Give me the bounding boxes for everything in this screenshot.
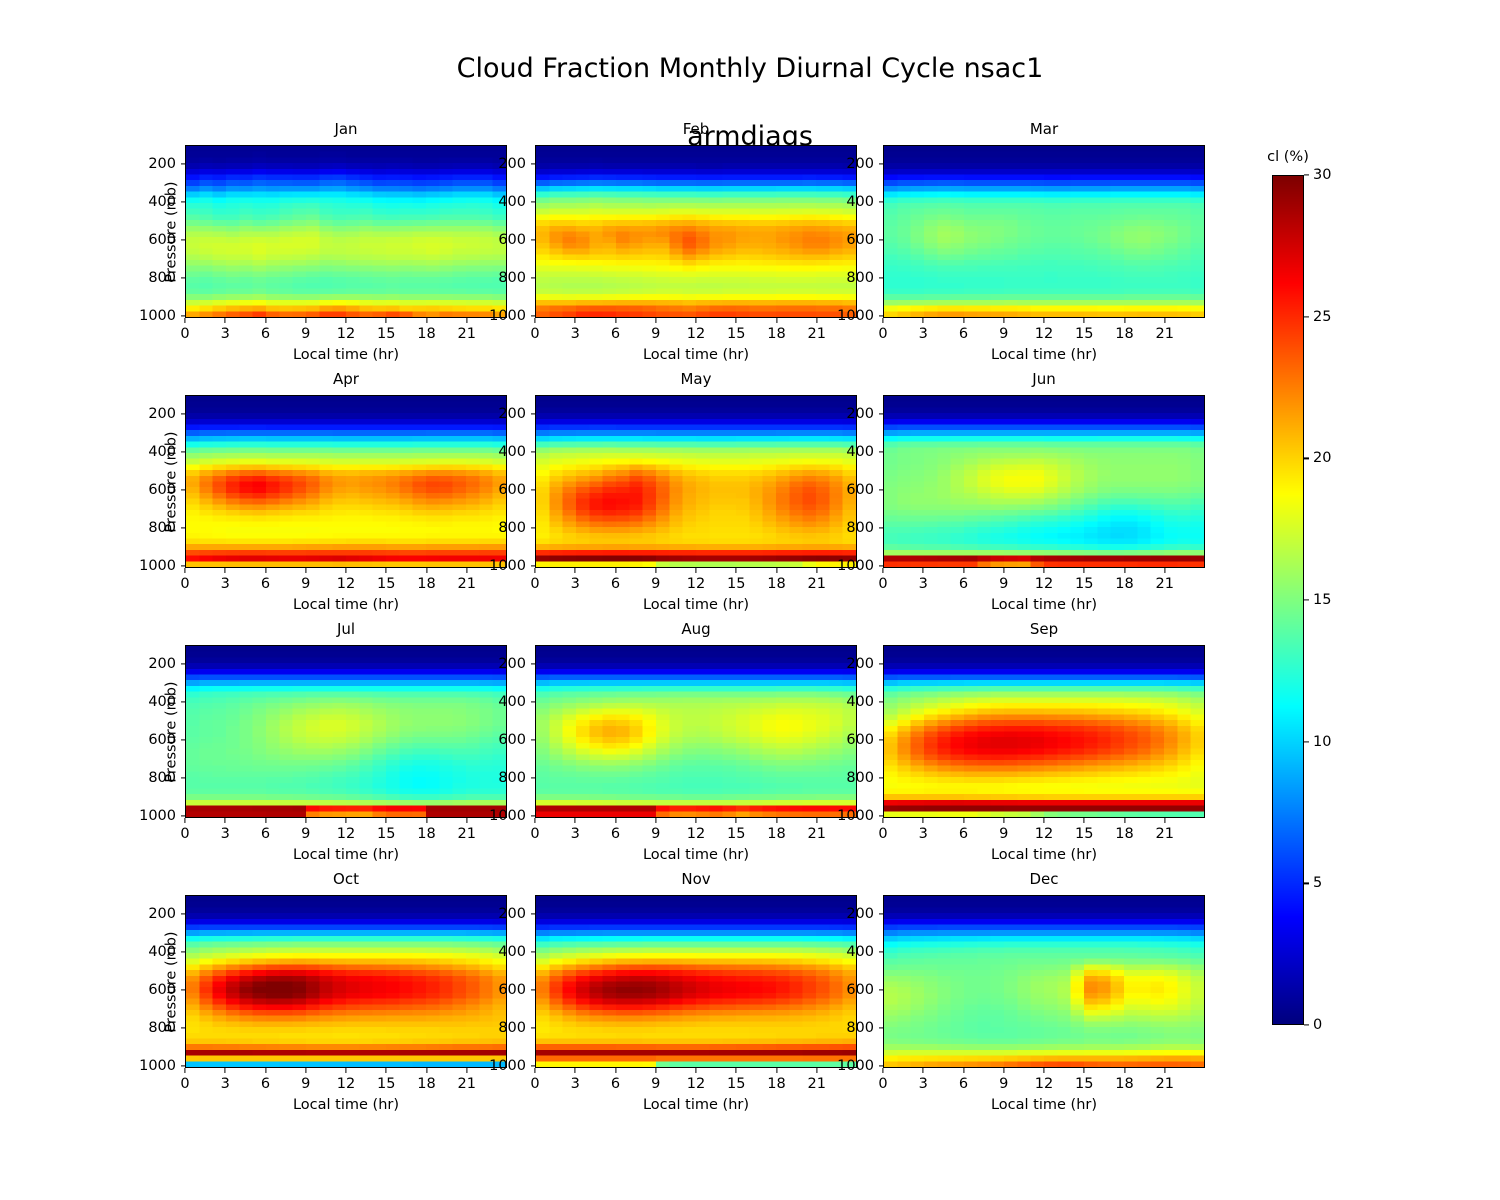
x-tick-mark — [184, 318, 185, 323]
heatmap-axes — [535, 895, 857, 1068]
x-tick-mark — [1164, 318, 1165, 323]
x-tick-label: 6 — [959, 576, 968, 592]
x-tick-mark — [655, 818, 656, 823]
x-tick-label: 18 — [1115, 1076, 1133, 1092]
x-tick-mark — [736, 568, 737, 573]
heatmap-image — [536, 896, 856, 1067]
x-tick-mark — [1124, 818, 1125, 823]
x-tick-mark — [655, 318, 656, 323]
x-tick-mark — [345, 818, 346, 823]
y-axis-label: Pressure (mb) — [164, 181, 180, 282]
x-tick-label: 18 — [1115, 326, 1133, 342]
x-tick-label: 0 — [180, 1076, 189, 1092]
colorbar-tick-label: 5 — [1304, 875, 1322, 891]
x-tick-label: 12 — [687, 1076, 705, 1092]
y-tick-label: 200 — [846, 656, 883, 672]
x-tick-mark — [426, 1068, 427, 1073]
x-tick-mark — [466, 818, 467, 823]
x-tick-label: 15 — [377, 326, 395, 342]
x-tick-label: 15 — [377, 576, 395, 592]
x-tick-mark — [265, 1068, 266, 1073]
x-tick-label: 3 — [571, 1076, 580, 1092]
x-axis-label: Local time (hr) — [185, 347, 507, 363]
x-tick-mark — [1084, 818, 1085, 823]
y-tick-label: 200 — [148, 656, 185, 672]
y-tick-label: 1000 — [489, 808, 535, 824]
heatmap-axes — [883, 145, 1205, 318]
x-tick-label: 15 — [727, 576, 745, 592]
x-tick-label: 18 — [767, 1076, 785, 1092]
y-tick-label: 800 — [498, 1020, 535, 1036]
x-tick-mark — [695, 318, 696, 323]
colorbar-tick-label: 30 — [1304, 167, 1331, 183]
x-tick-label: 9 — [651, 576, 660, 592]
x-tick-label: 15 — [1075, 576, 1093, 592]
x-tick-mark — [963, 818, 964, 823]
heatmap-image — [186, 146, 506, 317]
x-tick-mark — [225, 818, 226, 823]
y-tick-label: 400 — [498, 694, 535, 710]
y-tick-label: 1000 — [139, 558, 185, 574]
x-tick-mark — [386, 568, 387, 573]
heatmap-axes — [883, 895, 1205, 1068]
x-tick-label: 6 — [959, 826, 968, 842]
y-tick-label: 200 — [498, 406, 535, 422]
y-tick-label: 1000 — [489, 308, 535, 324]
x-tick-mark — [225, 568, 226, 573]
panel-jun: Jun2004006008001000036912151821Local tim… — [883, 395, 1205, 568]
x-tick-mark — [1124, 1068, 1125, 1073]
heatmap-image — [536, 646, 856, 817]
x-tick-mark — [534, 818, 535, 823]
panel-title: Apr — [185, 370, 507, 388]
x-tick-label: 9 — [999, 576, 1008, 592]
colorbar-tick-label: 20 — [1304, 450, 1331, 466]
x-tick-label: 3 — [919, 326, 928, 342]
x-tick-mark — [1043, 318, 1044, 323]
x-tick-mark — [776, 568, 777, 573]
x-tick-label: 18 — [417, 826, 435, 842]
panel-title: Aug — [535, 620, 857, 638]
y-tick-label: 200 — [846, 156, 883, 172]
x-tick-label: 3 — [221, 326, 230, 342]
x-tick-mark — [1003, 568, 1004, 573]
y-tick-label: 200 — [498, 906, 535, 922]
heatmap-image — [186, 896, 506, 1067]
x-tick-label: 21 — [1156, 1076, 1174, 1092]
x-tick-label: 9 — [651, 1076, 660, 1092]
heatmap-image — [186, 646, 506, 817]
y-axis-label: Pressure (mb) — [164, 681, 180, 782]
panel-title: Feb — [535, 120, 857, 138]
colorbar-tick-label: 10 — [1304, 734, 1331, 750]
x-tick-label: 18 — [417, 326, 435, 342]
y-tick-label: 600 — [498, 232, 535, 248]
x-tick-mark — [615, 318, 616, 323]
x-tick-label: 0 — [878, 826, 887, 842]
x-tick-mark — [1124, 318, 1125, 323]
panel-oct: Oct2004006008001000036912151821Local tim… — [185, 895, 507, 1068]
panel-aug: Aug2004006008001000036912151821Local tim… — [535, 645, 857, 818]
x-tick-label: 12 — [1035, 326, 1053, 342]
x-tick-label: 18 — [1115, 576, 1133, 592]
heatmap-image — [884, 146, 1204, 317]
x-axis-label: Local time (hr) — [535, 597, 857, 613]
x-tick-label: 3 — [919, 826, 928, 842]
x-tick-label: 21 — [1156, 326, 1174, 342]
x-tick-label: 15 — [377, 826, 395, 842]
x-tick-mark — [963, 318, 964, 323]
heatmap-axes — [185, 395, 507, 568]
y-axis-label: Pressure (mb) — [164, 931, 180, 1032]
x-tick-label: 3 — [571, 326, 580, 342]
x-tick-label: 6 — [959, 326, 968, 342]
y-tick-label: 1000 — [837, 558, 883, 574]
panel-may: May2004006008001000036912151821Local tim… — [535, 395, 857, 568]
heatmap-image — [884, 646, 1204, 817]
heatmap-image — [884, 396, 1204, 567]
x-tick-mark — [882, 318, 883, 323]
x-tick-mark — [695, 1068, 696, 1073]
x-tick-label: 6 — [959, 1076, 968, 1092]
x-tick-mark — [923, 1068, 924, 1073]
x-tick-mark — [345, 568, 346, 573]
x-tick-label: 9 — [999, 1076, 1008, 1092]
x-tick-mark — [575, 318, 576, 323]
x-tick-mark — [386, 318, 387, 323]
y-tick-label: 600 — [846, 482, 883, 498]
panel-title: Dec — [883, 870, 1205, 888]
x-tick-mark — [225, 1068, 226, 1073]
x-tick-mark — [345, 1068, 346, 1073]
y-tick-label: 200 — [846, 406, 883, 422]
x-tick-mark — [305, 318, 306, 323]
x-tick-label: 0 — [180, 326, 189, 342]
x-tick-mark — [1164, 1068, 1165, 1073]
x-axis-label: Local time (hr) — [883, 597, 1205, 613]
y-tick-label: 400 — [498, 194, 535, 210]
x-tick-mark — [736, 1068, 737, 1073]
x-tick-mark — [1003, 318, 1004, 323]
x-tick-mark — [575, 568, 576, 573]
y-tick-label: 1000 — [489, 558, 535, 574]
y-tick-label: 800 — [498, 270, 535, 286]
x-tick-label: 9 — [999, 326, 1008, 342]
y-tick-label: 600 — [498, 982, 535, 998]
x-tick-mark — [1084, 568, 1085, 573]
x-tick-mark — [816, 818, 817, 823]
y-tick-label: 600 — [498, 482, 535, 498]
x-tick-mark — [575, 1068, 576, 1073]
x-tick-mark — [736, 318, 737, 323]
x-tick-label: 21 — [1156, 576, 1174, 592]
y-tick-label: 800 — [846, 770, 883, 786]
x-tick-label: 18 — [767, 826, 785, 842]
panel-jan: Jan2004006008001000036912151821Local tim… — [185, 145, 507, 318]
x-tick-label: 15 — [727, 826, 745, 842]
x-tick-label: 21 — [808, 326, 826, 342]
x-tick-label: 0 — [878, 1076, 887, 1092]
x-tick-mark — [265, 318, 266, 323]
panel-title: Jan — [185, 120, 507, 138]
panel-title: Sep — [883, 620, 1205, 638]
x-tick-mark — [695, 568, 696, 573]
x-axis-label: Local time (hr) — [535, 347, 857, 363]
figure-title-line1: Cloud Fraction Monthly Diurnal Cycle nsa… — [457, 53, 1044, 84]
x-axis-label: Local time (hr) — [535, 847, 857, 863]
x-tick-label: 0 — [180, 826, 189, 842]
x-tick-label: 3 — [221, 576, 230, 592]
x-tick-mark — [1043, 1068, 1044, 1073]
y-tick-label: 1000 — [139, 1058, 185, 1074]
x-tick-label: 6 — [261, 826, 270, 842]
y-tick-label: 1000 — [139, 308, 185, 324]
x-tick-mark — [615, 818, 616, 823]
x-axis-label: Local time (hr) — [883, 347, 1205, 363]
colorbar-tick-label: 15 — [1304, 592, 1331, 608]
colorbar: cl (%) 051015202530 — [1272, 175, 1304, 1025]
x-tick-mark — [816, 1068, 817, 1073]
heatmap-axes — [535, 645, 857, 818]
x-tick-mark — [345, 318, 346, 323]
x-tick-mark — [615, 568, 616, 573]
y-tick-label: 1000 — [139, 808, 185, 824]
y-tick-label: 1000 — [837, 1058, 883, 1074]
x-tick-mark — [655, 568, 656, 573]
x-tick-mark — [466, 318, 467, 323]
x-tick-label: 12 — [337, 1076, 355, 1092]
x-tick-label: 12 — [687, 576, 705, 592]
panel-mar: Mar2004006008001000036912151821Local tim… — [883, 145, 1205, 318]
panel-title: Oct — [185, 870, 507, 888]
x-tick-label: 21 — [458, 1076, 476, 1092]
heatmap-axes — [185, 645, 507, 818]
y-tick-label: 400 — [498, 944, 535, 960]
heatmap-axes — [535, 145, 857, 318]
x-tick-mark — [426, 318, 427, 323]
colorbar-tick-label: 0 — [1304, 1017, 1322, 1033]
x-tick-label: 18 — [417, 576, 435, 592]
x-tick-label: 21 — [1156, 826, 1174, 842]
x-tick-label: 0 — [530, 1076, 539, 1092]
x-tick-mark — [655, 1068, 656, 1073]
x-tick-label: 21 — [808, 1076, 826, 1092]
x-axis-label: Local time (hr) — [883, 847, 1205, 863]
x-tick-label: 15 — [377, 1076, 395, 1092]
x-axis-label: Local time (hr) — [185, 1097, 507, 1113]
panel-nov: Nov2004006008001000036912151821Local tim… — [535, 895, 857, 1068]
x-tick-mark — [1003, 1068, 1004, 1073]
y-tick-label: 600 — [846, 732, 883, 748]
colorbar-label: cl (%) — [1267, 149, 1309, 165]
heatmap-axes — [883, 645, 1205, 818]
x-tick-mark — [923, 818, 924, 823]
x-tick-mark — [184, 1068, 185, 1073]
y-tick-label: 800 — [846, 1020, 883, 1036]
heatmap-image — [536, 396, 856, 567]
figure-canvas: Cloud Fraction Monthly Diurnal Cycle nsa… — [0, 0, 1500, 1200]
heatmap-axes — [535, 395, 857, 568]
panel-title: Jun — [883, 370, 1205, 388]
y-tick-label: 800 — [846, 520, 883, 536]
x-tick-mark — [695, 818, 696, 823]
y-tick-label: 800 — [498, 770, 535, 786]
x-tick-mark — [426, 568, 427, 573]
x-tick-label: 12 — [337, 326, 355, 342]
y-axis-label: Pressure (mb) — [164, 431, 180, 532]
x-tick-mark — [184, 818, 185, 823]
x-tick-mark — [466, 1068, 467, 1073]
x-tick-label: 18 — [767, 576, 785, 592]
x-tick-label: 15 — [1075, 826, 1093, 842]
x-tick-mark — [184, 568, 185, 573]
x-tick-label: 9 — [301, 576, 310, 592]
panel-apr: Apr2004006008001000036912151821Local tim… — [185, 395, 507, 568]
x-tick-mark — [1084, 1068, 1085, 1073]
x-tick-label: 3 — [571, 576, 580, 592]
x-tick-label: 12 — [687, 326, 705, 342]
x-tick-label: 12 — [337, 826, 355, 842]
x-tick-label: 9 — [999, 826, 1008, 842]
x-tick-label: 21 — [458, 326, 476, 342]
y-tick-label: 1000 — [489, 1058, 535, 1074]
panel-jul: Jul2004006008001000036912151821Local tim… — [185, 645, 507, 818]
x-tick-mark — [1164, 568, 1165, 573]
panel-title: Jul — [185, 620, 507, 638]
x-tick-label: 21 — [458, 576, 476, 592]
x-tick-label: 6 — [611, 576, 620, 592]
x-tick-label: 9 — [301, 1076, 310, 1092]
panel-title: May — [535, 370, 857, 388]
colorbar-tick-label: 25 — [1304, 309, 1331, 325]
panel-dec: Dec2004006008001000036912151821Local tim… — [883, 895, 1205, 1068]
x-tick-mark — [305, 568, 306, 573]
y-tick-label: 800 — [498, 520, 535, 536]
x-tick-mark — [1043, 818, 1044, 823]
x-tick-label: 6 — [261, 1076, 270, 1092]
x-tick-mark — [816, 318, 817, 323]
x-tick-label: 18 — [1115, 826, 1133, 842]
x-tick-label: 21 — [458, 826, 476, 842]
panel-feb: Feb2004006008001000036912151821Local tim… — [535, 145, 857, 318]
x-tick-mark — [736, 818, 737, 823]
x-tick-mark — [305, 818, 306, 823]
y-tick-label: 400 — [846, 194, 883, 210]
x-tick-mark — [575, 818, 576, 823]
x-tick-mark — [776, 818, 777, 823]
x-tick-label: 3 — [919, 1076, 928, 1092]
x-tick-label: 3 — [221, 826, 230, 842]
x-tick-mark — [963, 568, 964, 573]
x-tick-mark — [615, 1068, 616, 1073]
x-tick-mark — [265, 568, 266, 573]
x-tick-label: 6 — [611, 826, 620, 842]
y-tick-label: 600 — [846, 982, 883, 998]
panel-title: Mar — [883, 120, 1205, 138]
x-tick-label: 18 — [767, 326, 785, 342]
x-tick-mark — [882, 568, 883, 573]
y-tick-label: 600 — [498, 732, 535, 748]
x-tick-label: 15 — [727, 1076, 745, 1092]
x-tick-label: 0 — [530, 576, 539, 592]
x-tick-mark — [534, 1068, 535, 1073]
x-tick-mark — [426, 818, 427, 823]
x-axis-label: Local time (hr) — [883, 1097, 1205, 1113]
x-tick-label: 0 — [878, 576, 887, 592]
heatmap-image — [884, 896, 1204, 1067]
y-tick-label: 800 — [846, 270, 883, 286]
x-tick-mark — [882, 1068, 883, 1073]
y-tick-label: 400 — [846, 444, 883, 460]
panel-title: Nov — [535, 870, 857, 888]
x-tick-mark — [534, 568, 535, 573]
x-tick-mark — [1084, 318, 1085, 323]
y-tick-label: 400 — [846, 944, 883, 960]
x-tick-label: 12 — [1035, 576, 1053, 592]
y-tick-label: 400 — [846, 694, 883, 710]
heatmap-image — [186, 396, 506, 567]
x-tick-mark — [1003, 818, 1004, 823]
x-tick-label: 12 — [337, 576, 355, 592]
x-tick-mark — [816, 568, 817, 573]
x-tick-mark — [225, 318, 226, 323]
x-tick-label: 0 — [878, 326, 887, 342]
y-tick-label: 600 — [846, 232, 883, 248]
x-tick-label: 15 — [1075, 326, 1093, 342]
x-tick-label: 6 — [611, 1076, 620, 1092]
x-tick-mark — [963, 1068, 964, 1073]
x-tick-mark — [466, 568, 467, 573]
x-tick-label: 21 — [808, 826, 826, 842]
x-tick-label: 9 — [301, 326, 310, 342]
x-tick-mark — [923, 568, 924, 573]
x-tick-label: 0 — [530, 326, 539, 342]
x-tick-label: 9 — [651, 826, 660, 842]
x-tick-mark — [534, 318, 535, 323]
x-tick-label: 21 — [808, 576, 826, 592]
y-tick-label: 200 — [148, 156, 185, 172]
x-tick-mark — [882, 818, 883, 823]
x-tick-label: 3 — [221, 1076, 230, 1092]
x-tick-label: 15 — [727, 326, 745, 342]
x-tick-label: 3 — [571, 826, 580, 842]
x-tick-mark — [1164, 818, 1165, 823]
y-tick-label: 1000 — [837, 308, 883, 324]
x-tick-label: 15 — [1075, 1076, 1093, 1092]
x-tick-mark — [1043, 568, 1044, 573]
heatmap-axes — [185, 145, 507, 318]
x-tick-mark — [776, 1068, 777, 1073]
y-tick-label: 1000 — [837, 808, 883, 824]
x-tick-label: 12 — [1035, 826, 1053, 842]
heatmap-axes — [883, 395, 1205, 568]
x-tick-label: 18 — [417, 1076, 435, 1092]
y-tick-label: 200 — [148, 406, 185, 422]
x-tick-label: 9 — [301, 826, 310, 842]
x-tick-label: 3 — [919, 576, 928, 592]
x-tick-mark — [776, 318, 777, 323]
x-tick-label: 0 — [530, 826, 539, 842]
y-tick-label: 400 — [498, 444, 535, 460]
x-tick-mark — [923, 318, 924, 323]
x-tick-label: 6 — [611, 326, 620, 342]
x-axis-label: Local time (hr) — [185, 847, 507, 863]
x-tick-label: 9 — [651, 326, 660, 342]
x-tick-label: 12 — [687, 826, 705, 842]
x-tick-label: 0 — [180, 576, 189, 592]
x-tick-mark — [386, 818, 387, 823]
x-axis-label: Local time (hr) — [185, 597, 507, 613]
